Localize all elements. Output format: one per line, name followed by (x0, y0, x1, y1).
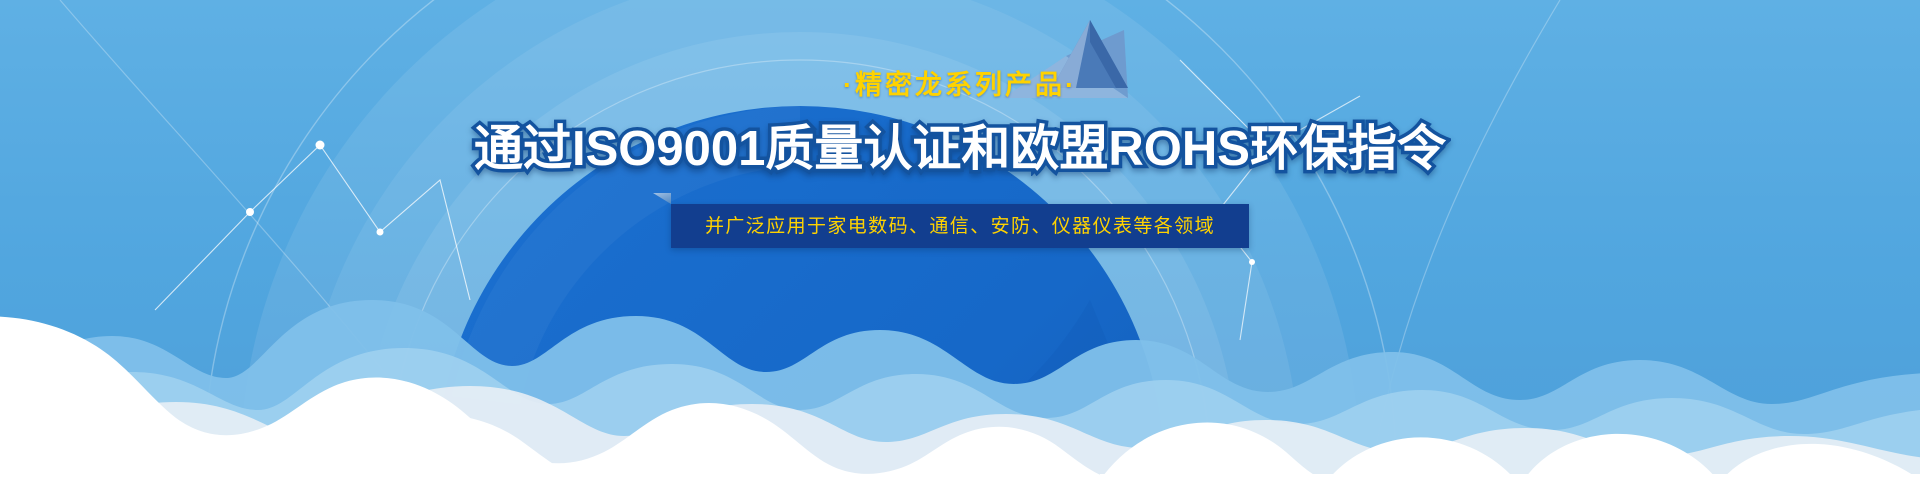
hero-banner: ·精密龙系列产品· 通过ISO9001质量认证和欧盟ROHS环保指令 并广泛应用… (0, 0, 1920, 480)
cloud-silhouette (0, 0, 1920, 480)
